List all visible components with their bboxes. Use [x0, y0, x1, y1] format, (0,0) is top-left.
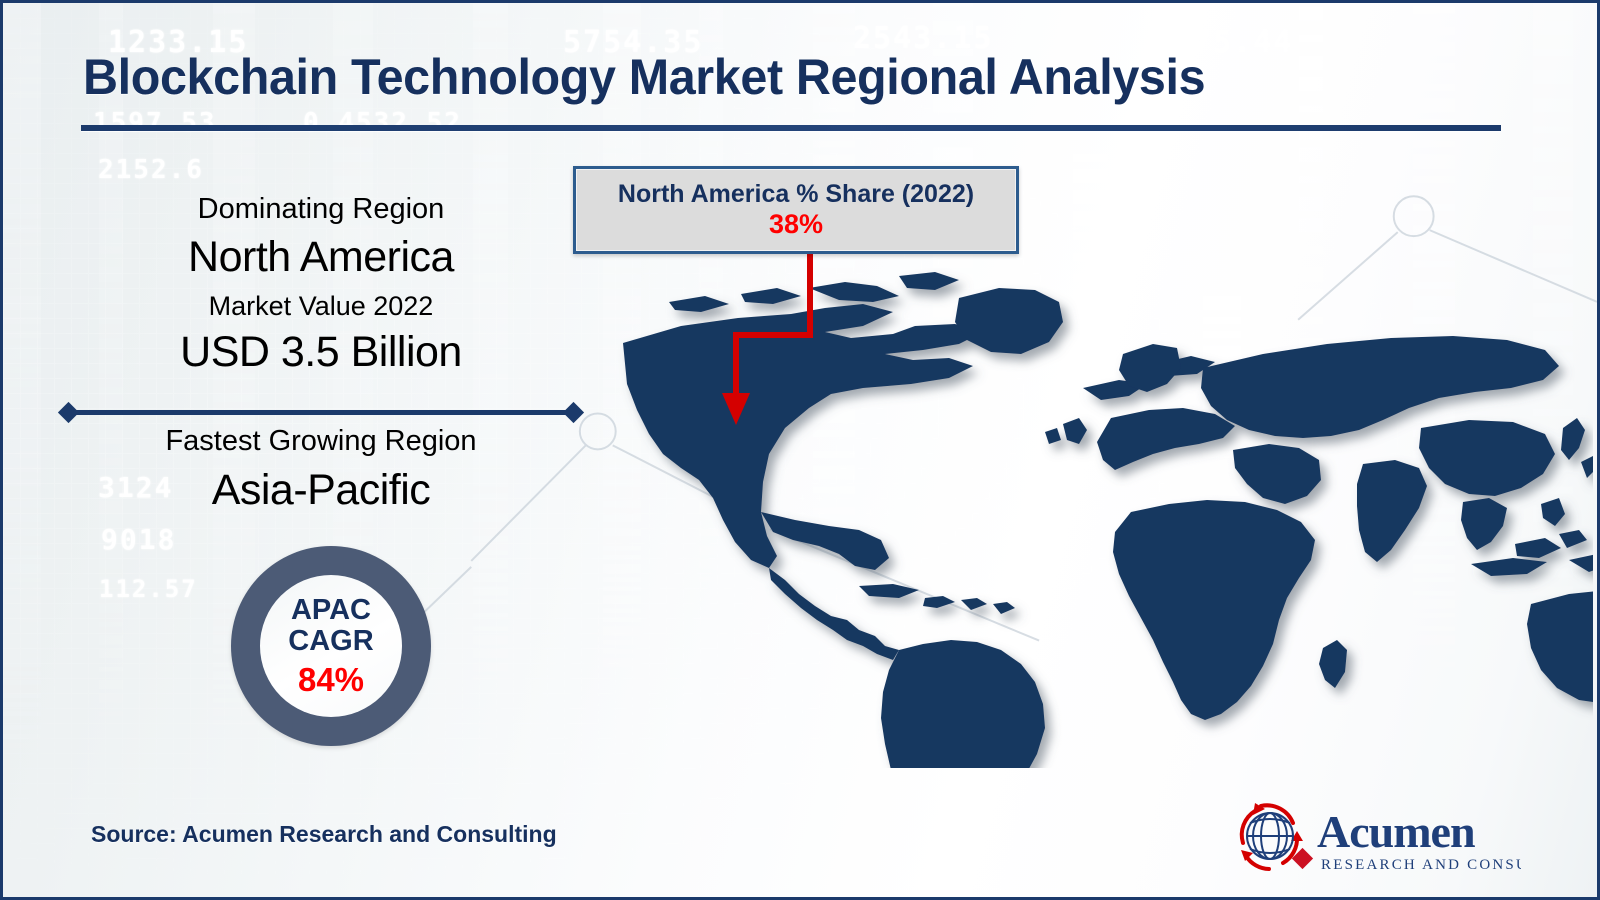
apac-cagr-donut-chart: APAC CAGR 84% — [231, 546, 431, 746]
page-title: Blockchain Technology Market Regional An… — [83, 48, 1490, 106]
callout-value: 38% — [769, 209, 823, 240]
divider-bar — [71, 410, 571, 415]
dominating-region-label: Dominating Region — [61, 193, 581, 226]
logo-wordmark: Acumen — [1317, 806, 1475, 857]
acumen-logo: Acumen RESEARCH AND CONSULTING — [1221, 793, 1521, 878]
background-digit: 1597.53 — [93, 108, 217, 138]
background-digit: 2152.6 — [98, 155, 204, 185]
market-value-label: Market Value 2022 — [61, 291, 581, 322]
section-divider — [61, 405, 581, 419]
north-america-share-callout: North America % Share (2022) 38% — [573, 166, 1019, 254]
donut-value: 84% — [298, 662, 364, 698]
market-value-value: USD 3.5 Billion — [61, 328, 581, 377]
infographic-canvas: 1233.155754.352543.15875.441597.530.4532… — [0, 0, 1600, 900]
background-digit: 112.57 — [99, 575, 198, 603]
donut-line-1: APAC — [291, 595, 371, 626]
callout-arrow — [563, 243, 963, 443]
fastest-growing-region-label: Fastest Growing Region — [61, 425, 581, 458]
donut-label-group: APAC CAGR 84% — [231, 546, 431, 746]
callout-title: North America % Share (2022) — [618, 180, 974, 209]
title-underline-rule — [81, 125, 1501, 131]
background-digit: 0.4532.52 — [303, 108, 462, 138]
background-digit: 9018 — [101, 523, 176, 556]
dominating-region-value: North America — [61, 233, 581, 282]
logo-tagline: RESEARCH AND CONSULTING — [1321, 857, 1521, 873]
arrowhead — [722, 393, 750, 425]
globe-icon — [1241, 803, 1313, 869]
source-text: Source: Acumen Research and Consulting — [91, 821, 557, 848]
fastest-growing-region-value: Asia-Pacific — [61, 466, 581, 515]
donut-line-2: CAGR — [288, 626, 373, 657]
